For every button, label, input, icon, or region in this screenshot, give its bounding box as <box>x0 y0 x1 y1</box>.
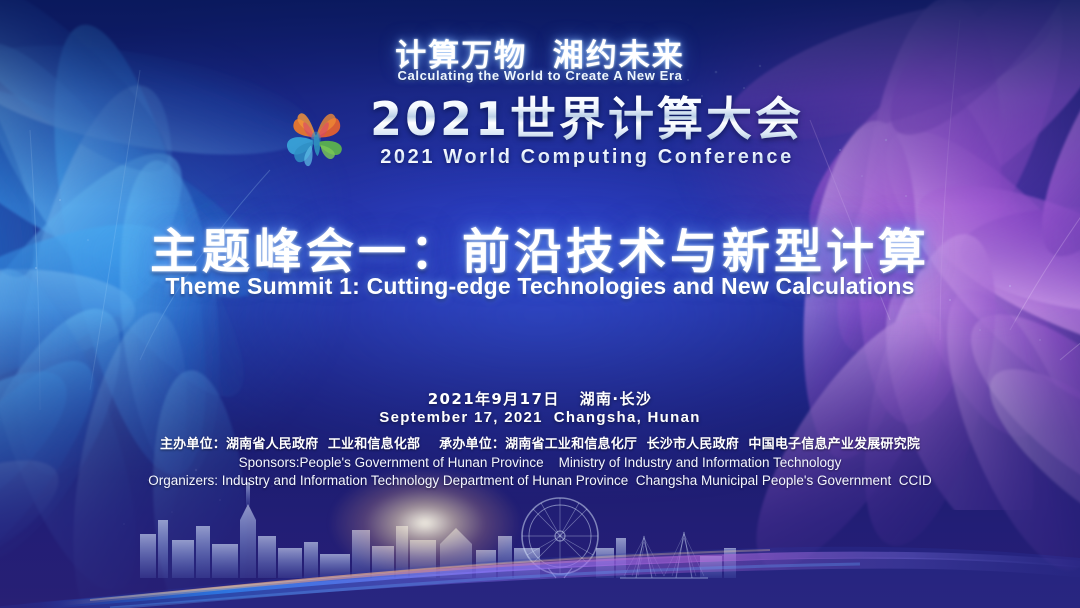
butterfly-flower-logo <box>276 96 356 172</box>
conference-title-row: 2021世界计算大会 2021 World Computing Conferen… <box>0 92 1080 172</box>
theme-title-english: Theme Summit 1: Cutting-edge Technologie… <box>0 273 1080 300</box>
conference-titles: 2021世界计算大会 2021 World Computing Conferen… <box>370 95 804 169</box>
organizers-chinese: 主办单位：湖南省人民政府 工业和信息化部 承办单位：湖南省工业和信息化厅 长沙市… <box>0 433 1080 452</box>
event-date-english: September 17, 2021 Changsha, Hunan <box>0 409 1080 426</box>
event-date-chinese: 2021年9月17日 湖南·长沙 <box>0 388 1080 409</box>
conference-poster: 计算万物 湘约未来 Calculating the World to Creat… <box>0 0 1080 608</box>
organizers-english: Organizers: Industry and Information Tec… <box>0 473 1080 488</box>
theme-title-chinese: 主题峰会一：前沿技术与新型计算 <box>0 212 1080 282</box>
conference-title-english: 2021 World Computing Conference <box>380 146 794 169</box>
conference-title-chinese: 2021世界计算大会 <box>370 95 804 143</box>
sponsors-english: Sponsors:People's Government of Hunan Pr… <box>0 455 1080 470</box>
slogan-english: Calculating the World to Create A New Er… <box>0 68 1080 83</box>
